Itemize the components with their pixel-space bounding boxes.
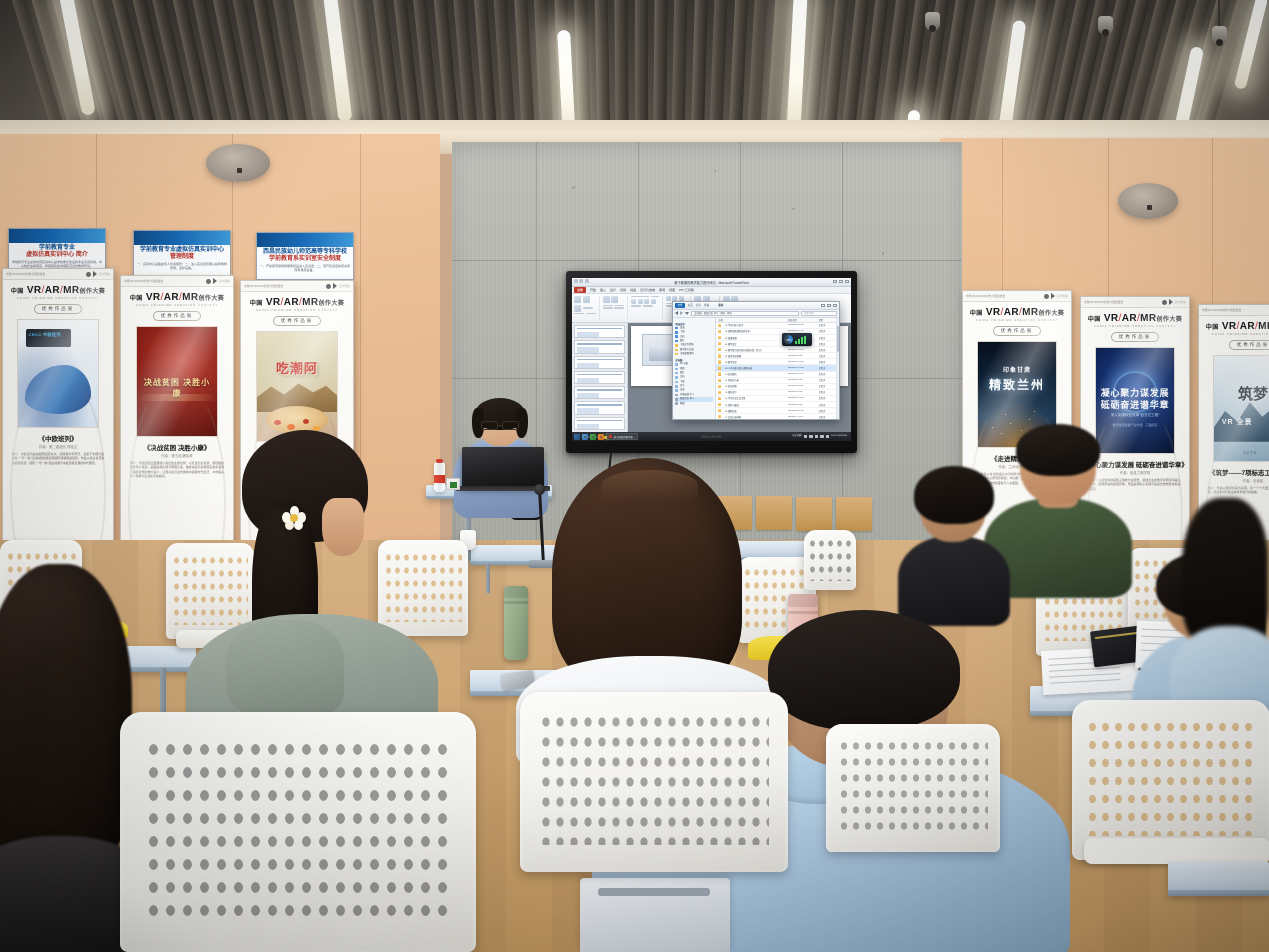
slide-thumbnail[interactable] (574, 340, 625, 353)
banner-header-right: 官方网站 (99, 272, 110, 276)
wall-speaker-right-icon (1118, 183, 1178, 219)
table-leg (160, 668, 166, 718)
banner-logo-dot (1044, 294, 1049, 299)
start-icon[interactable] (574, 434, 580, 440)
file-name-text: 11 考核评价表 (723, 378, 739, 382)
play-icon (1169, 299, 1173, 305)
file-date-cell: 2020/5/25 14:02 (786, 397, 817, 399)
banner-logo-dot (86, 272, 91, 277)
file-type-cell: 文件夹 (817, 360, 836, 364)
file-type-cell: 文件夹 (817, 366, 836, 370)
file-name-text: 13 团队简介 (723, 390, 737, 394)
volume-icon[interactable] (815, 435, 819, 439)
banner-seal: 优秀作品展 (153, 311, 202, 321)
banner-brand-mr: MR (1258, 321, 1269, 332)
file-name-text: 03 课程思政典型案例文本 (723, 329, 750, 333)
file-type-cell: 文件夹 (817, 415, 836, 419)
maximize-icon[interactable] (839, 280, 843, 283)
file-type-cell: 文件夹 (817, 342, 836, 346)
file-rows-container[interactable]: 02 学习目标与任务2020/5/18 10:04文件夹03 课程思政典型案例文… (716, 323, 835, 420)
banner-header-left: 中国VR/AR/MR创作大赛组委会 (1084, 300, 1123, 304)
tab-review[interactable]: 审阅 (659, 288, 665, 292)
explorer-menu-share[interactable]: 共享 (696, 303, 701, 307)
banner-seal: 优秀作品展 (34, 304, 83, 314)
tab-slideshow[interactable]: 幻灯片放映 (640, 288, 655, 292)
back-icon[interactable] (675, 311, 678, 315)
attendee-mid-left-dark (898, 466, 1010, 616)
banner-brand-ar: AR (1122, 313, 1137, 324)
ceiling-slat (573, 0, 593, 132)
student-table (1168, 862, 1269, 896)
security-camera-icon (925, 12, 940, 31)
banner-brand-mr: MR (1140, 313, 1156, 324)
file-date-cell: 2020/5/19 17:32 (786, 330, 817, 332)
file-name-cell: 11 考核评价表 (716, 378, 785, 382)
folder-icon (718, 342, 721, 345)
banner-seal: 优秀作品展 (993, 326, 1042, 336)
system-tray[interactable]: 中文 简体 10:21 2020/5/28 (792, 435, 849, 439)
folder-icon (718, 348, 721, 351)
tab-ppt-toolkit[interactable]: PPT工具箱 (679, 288, 694, 292)
file-name-cell: 08 教学反思 (716, 360, 785, 364)
classroom-chair[interactable] (1072, 700, 1269, 860)
folder-icon (718, 372, 721, 375)
banner-brand-mr: MR (1022, 307, 1038, 318)
banner-brand-suffix: 创作大赛 (319, 301, 345, 307)
copy-icon[interactable] (574, 305, 581, 312)
banner-header-left: 中国VR/AR/MR创作大赛组委会 (124, 279, 163, 283)
explorer-main[interactable]: 快速访问 桌面 下载 文档 图片 下载文件资料 教学能力比赛 市级课题资料 此电… (673, 318, 838, 419)
banner-brand-cn: 中国 (250, 301, 263, 307)
banner-brand-ar: AR (1004, 307, 1019, 318)
plaque-header-band (9, 229, 105, 243)
slide-thumbnail[interactable] (574, 356, 625, 369)
ceiling-slat (634, 0, 647, 132)
banner-brand-vr: VR (986, 307, 1001, 318)
folder-icon (718, 379, 721, 382)
ceiling-slat (744, 0, 770, 132)
cut-icon[interactable] (583, 296, 590, 303)
banner-brand-suffix: 创作大赛 (80, 289, 106, 295)
flower-hair-clip (282, 506, 306, 530)
tab-transitions[interactable]: 切换 (620, 288, 626, 292)
file-name-text: 17 会议记录材料 (723, 415, 741, 419)
camera-mount (1218, 0, 1220, 26)
slatted-ceiling (0, 0, 1269, 132)
new-slide-icon[interactable] (603, 296, 610, 303)
security-camera-icon (1212, 26, 1227, 45)
interactive-flat-panel[interactable]: 基于微课的教学能力提升研讨 - Microsoft PowerPoint 文件 … (566, 271, 857, 453)
camera-mount (931, 0, 933, 12)
file-name-text: 06 教学能力提升研讨实施方案（修订） (723, 348, 763, 352)
file-name-text: 15 素材与图库 (723, 403, 739, 407)
ceiling-slat (614, 0, 629, 132)
up-icon[interactable] (685, 312, 689, 315)
address-breadcrumb[interactable]: 此电脑 › 新建分区 (D:) › 资料 › 素材 (691, 311, 799, 317)
file-name-cell: 15 素材与图库 (716, 403, 785, 407)
tab-insert[interactable]: 插入 (600, 288, 606, 292)
sidebar-item-label: 网络 (680, 402, 685, 406)
explorer-scrollbar[interactable] (836, 318, 839, 419)
play-icon (333, 283, 337, 289)
explorer-sidebar[interactable]: 快速访问 桌面 下载 文档 图片 下载文件资料 教学能力比赛 市级课题资料 此电… (673, 318, 716, 419)
folder-icon (718, 415, 721, 418)
banner-brand-vr: VR (146, 292, 161, 303)
file-name-cell: 03 课程思政典型案例文本 (716, 329, 785, 333)
ceiling-slat (708, 0, 730, 132)
banner-brand-en: CHINA VR/AR/MR CREATION CONTEST (976, 319, 1058, 322)
artwork-title: 凝心聚力谋发展 (1096, 386, 1174, 399)
file-type-cell: 文件夹 (817, 384, 836, 388)
file-date-cell: 2020/5/26 11:30 (786, 410, 817, 412)
explorer-title-bar: 文件 主页 共享 查看 素材 (673, 302, 838, 310)
file-type-cell: 文件夹 (817, 372, 836, 376)
file-name-text: 08 教学反思 (723, 360, 737, 364)
ime-indicator[interactable]: 中文 简体 (792, 435, 801, 438)
tab-view[interactable]: 视图 (669, 288, 675, 292)
file-name-cell: 16 课程标准 (716, 409, 785, 413)
cloud-icon[interactable] (826, 435, 830, 439)
folder-icon (718, 360, 721, 363)
folder-icon (718, 397, 721, 400)
banner-brand-cn: 中国 (1206, 325, 1219, 331)
file-name-text: 12 佐证材料 (723, 384, 737, 388)
file-date-cell: 2020/5/26 8:45 (786, 404, 817, 406)
tab-file[interactable]: 文件 (574, 287, 586, 293)
wall-plaque: 西昌民族幼儿师范高等专科学校 学前教育系实训室安全制度 一、严禁携带易燃易爆危险… (256, 232, 354, 280)
file-type-cell: 文件夹 (817, 396, 836, 400)
ribbon-group-slides[interactable] (603, 296, 629, 320)
folder-icon (718, 354, 721, 357)
column-header-type[interactable]: 类型 (817, 318, 836, 322)
explorer-menu-home[interactable]: 主页 (688, 303, 693, 307)
tab-home[interactable]: 开始 (590, 288, 596, 292)
tab-animations[interactable]: 动画 (630, 288, 636, 292)
file-list[interactable]: 名称 修改日期 类型 02 学习目标与任务2020/5/18 10:04文件夹0… (716, 318, 835, 419)
folder-icon (718, 385, 721, 388)
play-icon (1051, 293, 1055, 299)
banner-brand-ar: AR (284, 297, 299, 308)
security-icon[interactable] (820, 435, 824, 439)
banner-brand-suffix: 创作大赛 (1157, 317, 1183, 323)
column-header-date[interactable]: 修改日期 (786, 318, 817, 322)
attendee-far-right (1180, 498, 1269, 728)
classroom-chair[interactable] (520, 692, 788, 872)
file-name-cell: 06 教学能力提升研讨实施方案（修订） (716, 348, 785, 352)
explorer-menu-file[interactable]: 文件 (675, 303, 684, 308)
save-icon[interactable] (574, 279, 578, 283)
ceiling-slat (689, 0, 709, 132)
file-type-cell: 文件夹 (817, 403, 836, 407)
slide-thumbnail[interactable] (574, 386, 625, 399)
taskbar-window-label: 基于微课的教学能... (614, 435, 635, 439)
wall-plaque: 学前教育专业虚拟仿真实训中心 管理制度 一、实训中心设备由专人负责保管；二、进入… (133, 230, 231, 278)
file-type-cell: 文件夹 (817, 390, 836, 394)
file-type-cell: 文件夹 (817, 378, 836, 382)
file-type-cell: 文件夹 (817, 336, 836, 340)
wall-speaker-left-icon (206, 144, 270, 182)
undo-icon[interactable] (579, 279, 583, 283)
artwork-title: 吃潮阿 (261, 358, 332, 377)
folder-icon (718, 324, 721, 327)
banner-brand-en: CHINA VR/AR/MR CREATION CONTEST (17, 297, 99, 300)
banner-brand-vr: VR (1104, 313, 1119, 324)
security-camera-icon (1098, 16, 1113, 35)
file-name-text: 09 人才培养方案与课程标准 (723, 366, 752, 370)
ceiling-slat (671, 0, 688, 132)
artwork-card-label: CRCC 中欧班列 (28, 332, 60, 338)
file-name-text: 16 课程标准 (723, 409, 737, 413)
folder-icon (718, 330, 721, 333)
banner-brand-mr: MR (63, 285, 79, 296)
file-type-cell: 文件夹 (817, 323, 836, 327)
ribbon-group-clipboard[interactable] (574, 296, 600, 320)
tab-design[interactable]: 设计 (610, 288, 616, 292)
taskbar-clock[interactable]: 10:21 2020/5/28 (831, 435, 847, 438)
search-input[interactable]: 搜索“素材” (801, 311, 837, 317)
file-name-cell: 10 实训报告 (716, 372, 785, 376)
banner-logo-dot (326, 284, 331, 289)
file-date-cell: 2020/5/23 15:20 (786, 373, 817, 375)
banner-header-right: 官方网站 (1175, 300, 1186, 304)
banner-brand-vr: VR (266, 297, 281, 308)
banner-seal: 优秀作品展 (1229, 340, 1269, 350)
file-name-cell: 13 团队简介 (716, 390, 785, 394)
close-icon[interactable] (845, 280, 849, 283)
ribbon-group-font[interactable] (631, 296, 663, 320)
banner-header-right: 官方网站 (219, 279, 230, 283)
banner-brand-cn: 中国 (970, 311, 983, 317)
banner-brand-en: CHINA VR/AR/MR CREATION CONTEST (256, 309, 338, 312)
artwork-title-small: 印象甘肃 (978, 365, 1056, 374)
banner-header-right: 官方网站 (339, 284, 350, 288)
banner-brand-ar: AR (1240, 321, 1255, 332)
ceiling-slat (726, 0, 750, 132)
chair-armrest (1084, 838, 1269, 864)
file-name-cell: 17 会议记录材料 (716, 415, 785, 419)
file-explorer-window[interactable]: 文件 主页 共享 查看 素材 此电脑 › 新建分区 (D:) › 资料 › 素材… (672, 301, 839, 420)
table-leg (486, 563, 490, 593)
slide-thumbnail[interactable] (574, 417, 625, 430)
file-name-cell: 04 微课视频 (716, 336, 785, 340)
ceiling-slat (653, 0, 668, 132)
file-name-cell: 14 学生作品汇总合集 (716, 396, 785, 400)
file-date-cell: 2020/5/22 10:44 (786, 361, 817, 363)
folder-icon (718, 366, 721, 369)
slide-thumbnail[interactable] (574, 325, 625, 338)
plaque-line2: 管理制度 (137, 254, 227, 262)
minimize-icon[interactable] (833, 280, 837, 283)
banner-logo-dot (206, 279, 211, 284)
ceiling-light (786, 0, 807, 132)
plaque-subtext: 一、严禁携带易燃易爆危险品进入实训室；二、离开实训室前须关闭所有电源设备。 (260, 265, 350, 273)
file-name-text: 10 实训报告 (723, 372, 737, 376)
artwork-title: 筑梦 (1214, 383, 1269, 404)
file-date-cell: 2020/5/21 16:02 (786, 349, 817, 351)
classroom-chair[interactable] (826, 724, 1000, 852)
file-name-text: 14 学生作品汇总合集 (723, 396, 746, 400)
file-date-cell: 2020/5/27 15:12 (786, 416, 817, 418)
slide-thumbnail-pane[interactable] (572, 323, 628, 432)
chevron-up-icon[interactable] (804, 435, 808, 439)
file-type-cell: 文件夹 (817, 409, 836, 413)
battery-percent-text: 45% (786, 338, 792, 342)
file-date-cell: 2020/5/18 10:04 (786, 324, 817, 326)
explorer-window-title: 素材 (718, 303, 723, 307)
close-icon[interactable] (833, 304, 837, 307)
banner-seal: 优秀作品展 (1111, 332, 1160, 342)
file-date-cell: 2020/5/24 10:51 (786, 385, 817, 387)
banner-seal: 优秀作品展 (273, 316, 322, 326)
banner-header-right: 官方网站 (1057, 294, 1068, 298)
explorer-menu-view[interactable]: 查看 (704, 303, 709, 307)
ceiling-slat (594, 0, 611, 132)
plaque-header-band (257, 233, 353, 247)
folder-icon (718, 391, 721, 394)
banner-brand-en: CHINA VR/AR/MR CREATION CONTEST (136, 304, 218, 307)
play-icon (213, 278, 217, 284)
file-name-text: 02 学习目标与任务 (723, 323, 743, 327)
column-header-name[interactable]: 名称 (716, 318, 785, 322)
attendee-front-left (186, 430, 438, 760)
file-row[interactable]: 17 会议记录材料2020/5/27 15:12文件夹 (716, 414, 835, 420)
powerpoint-window[interactable]: 基于微课的教学能力提升研讨 - Microsoft PowerPoint 文件 … (572, 278, 851, 441)
banner-brand-suffix: 创作大赛 (1039, 311, 1065, 317)
banner-brand-cn: 中国 (11, 289, 24, 295)
folder-icon (718, 336, 721, 339)
powerpoint-title-text: 基于微课的教学能力提升研讨 - Microsoft PowerPoint (674, 280, 748, 285)
layout-icon[interactable] (611, 296, 618, 303)
banner-brand-vr: VR (1222, 321, 1237, 332)
bullets-icon[interactable] (666, 296, 671, 301)
file-name-cell: 12 佐证材料 (716, 384, 785, 388)
explorer-navigation-bar[interactable]: 此电脑 › 新建分区 (D:) › 资料 › 素材 搜索“素材” (673, 310, 838, 318)
plaque-line2: 虚拟仿真实训中心 简介 (12, 252, 102, 260)
display-screen[interactable]: 基于微课的教学能力提升研讨 - Microsoft PowerPoint 文件 … (572, 278, 851, 441)
banner-brand-suffix: 创作大赛 (199, 296, 225, 302)
file-name-text: 05 教学设计 (723, 342, 737, 346)
maximize-icon[interactable] (827, 304, 831, 307)
banner-brand-cn: 中国 (130, 296, 143, 302)
banner-header-left: 中国VR/AR/MR创作大赛组委会 (1202, 308, 1241, 312)
small-box (446, 478, 460, 490)
file-date-cell: 2020/5/22 8:38 (786, 355, 817, 357)
file-name-text: 07 课堂实录视频 (723, 354, 741, 358)
forward-icon[interactable] (680, 311, 683, 315)
banner-brand-vr: VR (27, 285, 42, 296)
classroom-chair[interactable] (120, 712, 476, 952)
taskbar-active-window[interactable]: 基于微课的教学能... (606, 433, 638, 440)
underline-icon[interactable] (644, 299, 649, 304)
laptop-foreground (580, 878, 730, 952)
camera-mount (1104, 0, 1106, 16)
folder-icon (718, 409, 721, 412)
powerpoint-ribbon-tabs[interactable]: 文件 开始 插入 设计 切换 动画 幻灯片放映 审阅 视图 PPT工具箱 (572, 287, 851, 294)
paste-icon[interactable] (574, 296, 581, 303)
file-name-cell: 02 学习目标与任务 (716, 323, 785, 327)
file-type-cell: 文件夹 (817, 348, 836, 352)
classroom-photo-scene: 学前教育专业 虚拟仿真实训中心 简介 学前教育专业虚拟仿真实训中心是学校重点建设… (0, 0, 1269, 952)
file-date-cell: 2020/5/24 9:06 (786, 379, 817, 381)
plaque-subtext: 一、实训中心设备由专人负责保管；二、进入实训室须服从指导教师安排，爱护设备。 (137, 263, 227, 271)
classroom-chair[interactable] (804, 530, 856, 590)
banner-header-left: 中国VR/AR/MR创作大赛组委会 (6, 272, 45, 276)
bold-icon[interactable] (631, 299, 636, 304)
plaque-header-band (134, 231, 230, 245)
file-type-cell: 文件夹 (817, 329, 836, 333)
ceiling-slat (532, 0, 556, 132)
file-date-cell: 2020/5/25 9:18 (786, 391, 817, 393)
file-type-cell: 文件夹 (817, 354, 836, 358)
file-name-text: 04 微课视频 (723, 336, 737, 340)
banner-brand-en: CHINA VR/AR/MR CREATION CONTEST (1212, 333, 1269, 336)
panel-led-indicators (584, 436, 602, 438)
slide-thumbnail[interactable] (574, 371, 625, 384)
banner-header-left: 中国VR/AR/MR创作大赛组委会 (966, 294, 1005, 298)
network-icon[interactable] (809, 435, 813, 439)
strikethrough-icon[interactable] (651, 299, 656, 304)
banner-brand-cn: 中国 (1088, 317, 1101, 323)
battery-status-badge: 45% (782, 333, 812, 346)
power-led-icon (604, 436, 607, 439)
minimize-icon[interactable] (821, 304, 825, 307)
folder-icon (718, 403, 721, 406)
play-icon (93, 271, 97, 277)
sidebar-item-network[interactable]: 网络 (675, 402, 713, 406)
banner-brand-ar: AR (164, 292, 179, 303)
slide-thumbnail[interactable] (574, 401, 625, 414)
sidebar-item-city-project[interactable]: 市级课题资料 (675, 352, 713, 356)
plaque-line2: 学前教育系实训室安全制度 (260, 256, 350, 264)
panel-brand-label: MAXHUB (701, 434, 721, 439)
banner-logo-dot (1162, 300, 1167, 305)
banner-brand-en: CHINA VR/AR/MR CREATION CONTEST (1094, 325, 1176, 328)
italic-icon[interactable] (638, 299, 643, 304)
artwork-title: 精致兰州 (978, 376, 1056, 393)
banner-brand-ar: AR (45, 285, 60, 296)
banner-brand-mr: MR (302, 297, 318, 308)
powerpoint-title-bar: 基于微课的教学能力提升研讨 - Microsoft PowerPoint (572, 278, 851, 287)
banner-header-left: 中国VR/AR/MR创作大赛组委会 (244, 284, 283, 288)
file-name-cell: 05 教学设计 (716, 342, 785, 346)
file-name-cell: 07 课堂实录视频 (716, 354, 785, 358)
sidebar-item-label: 市级课题资料 (680, 352, 694, 356)
redo-icon[interactable] (585, 279, 589, 283)
banner-brand-mr: MR (182, 292, 198, 303)
file-name-cell: 09 人才培养方案与课程标准 (716, 366, 785, 370)
file-date-cell: 2020/5/23 13:04 (786, 367, 817, 369)
